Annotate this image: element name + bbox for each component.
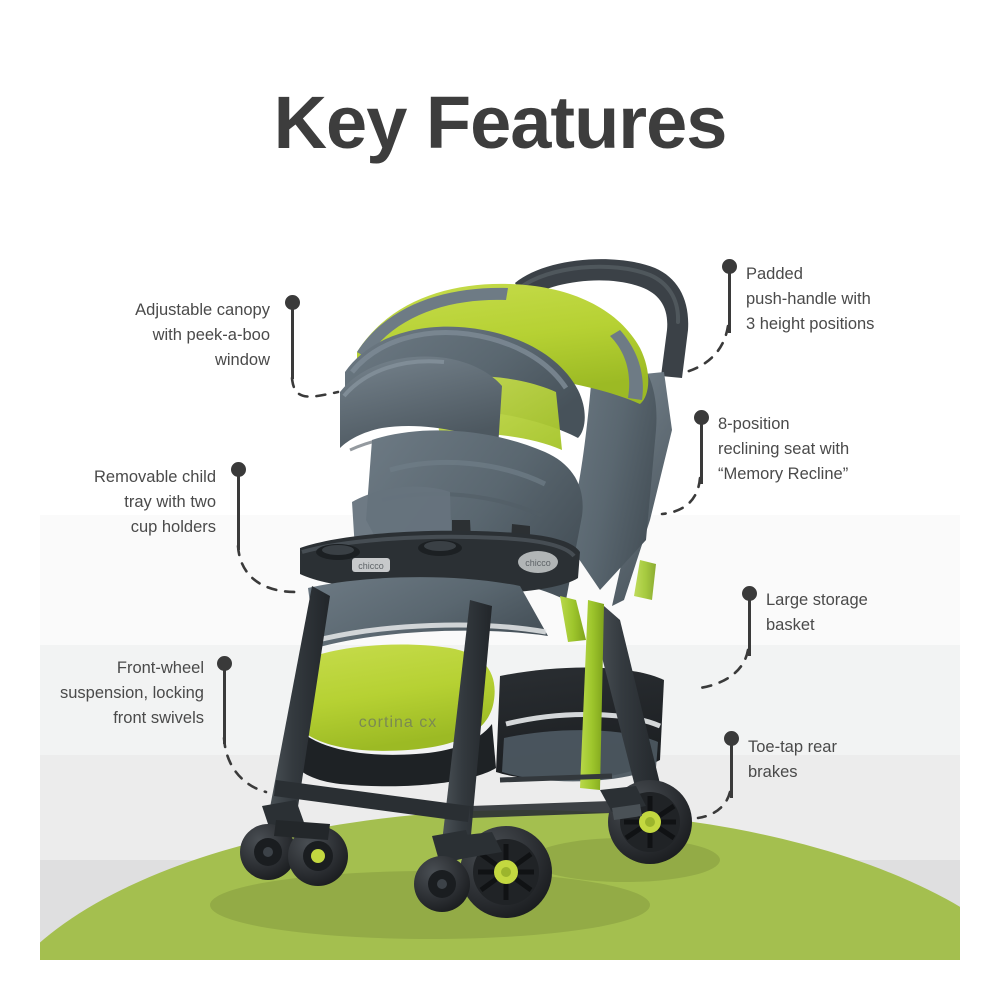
callout-removable-child-tray: Removable child tray with two cup holder… bbox=[36, 465, 216, 539]
callout-adjustable-canopy: Adjustable canopy with peek-a-boo window bbox=[85, 298, 270, 372]
pin-stem bbox=[728, 271, 731, 333]
pin-stem bbox=[237, 474, 240, 550]
callout-reclining-seat: 8-position reclining seat with “Memory R… bbox=[718, 412, 928, 486]
callout-toe-tap-rear-brakes: Toe-tap rear brakes bbox=[748, 735, 938, 785]
callout-large-storage-basket: Large storage basket bbox=[766, 588, 956, 638]
callout-padded-push-handle: Padded push-handle with 3 height positio… bbox=[746, 262, 946, 336]
callout-front-wheel-suspension: Front-wheel suspension, locking front sw… bbox=[14, 656, 204, 730]
pin-stem bbox=[291, 307, 294, 379]
pin-stem bbox=[700, 422, 703, 484]
pin-stem bbox=[730, 743, 733, 798]
key-features-infographic: Key Features bbox=[0, 0, 1000, 1000]
pin-stem bbox=[223, 668, 226, 744]
pin-stem bbox=[748, 598, 751, 656]
page-title: Key Features bbox=[0, 86, 1000, 160]
